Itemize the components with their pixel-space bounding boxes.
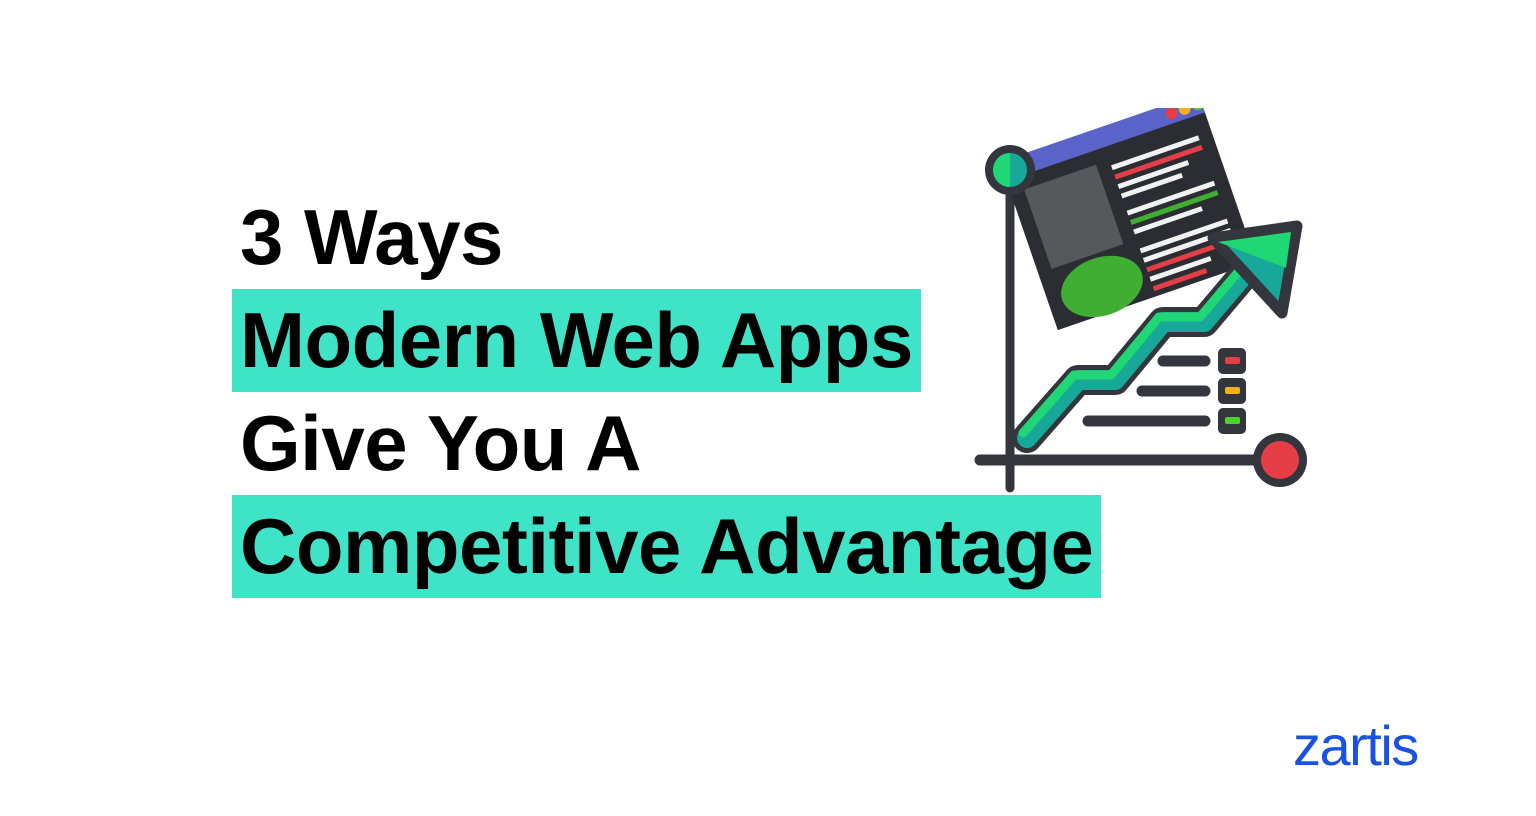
legend-chip-green xyxy=(1225,417,1240,424)
legend-row-3 xyxy=(1088,408,1246,434)
headline-line-4-text: Competitive Advantage xyxy=(232,495,1101,598)
axis-top-marker-icon xyxy=(985,145,1035,195)
legend-chip-red xyxy=(1225,357,1240,364)
zartis-logo: zartis xyxy=(1293,718,1418,774)
headline-line-3-text: Give You A xyxy=(232,392,649,495)
headline-line-4: Competitive Advantage xyxy=(232,495,1132,598)
headline-line-1-text: 3 Ways xyxy=(232,186,511,289)
axis-right-marker-icon xyxy=(1253,433,1307,487)
legend-row-1 xyxy=(1163,348,1246,374)
legend-row-2 xyxy=(1142,378,1246,404)
headline-line-2-text: Modern Web Apps xyxy=(232,289,921,392)
slide-canvas: 3 Ways Modern Web Apps Give You A Compet… xyxy=(0,0,1536,816)
growth-chart-illustration xyxy=(960,108,1330,508)
legend-chip-yellow xyxy=(1225,387,1240,394)
